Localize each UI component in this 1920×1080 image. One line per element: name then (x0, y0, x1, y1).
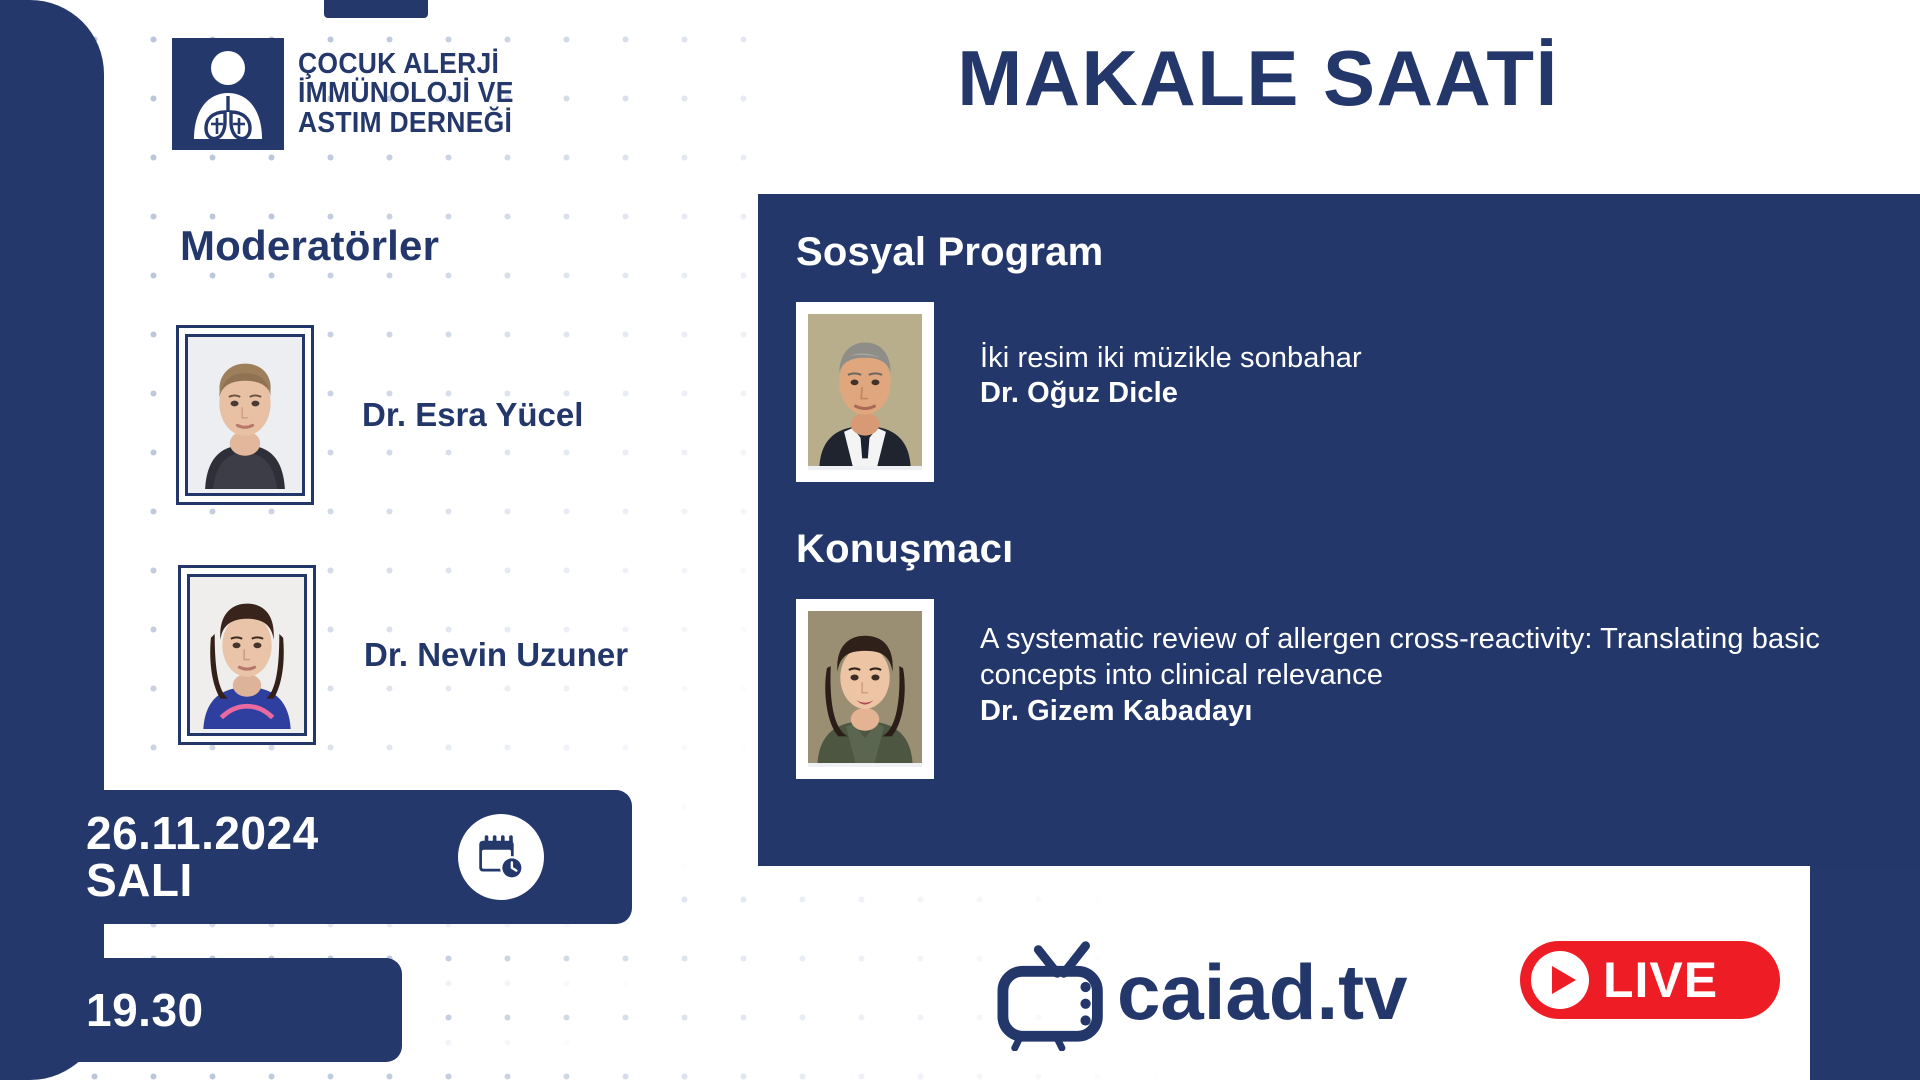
moderator-name: Dr. Esra Yücel (362, 396, 583, 434)
organization-name: ÇOCUK ALERJİ İMMÜNOLOJİ VE ASTIM DERNEĞİ (298, 50, 514, 139)
moderators-heading: Moderatörler (180, 222, 439, 270)
entry-speaker: Dr. Gizem Kabadayı (980, 695, 1920, 728)
poster-canvas: ÇOCUK ALERJİ İMMÜNOLOJİ VE ASTIM DERNEĞİ… (0, 0, 1920, 1080)
program-entry-social: İki resim iki müzikle sonbahar Dr. Oğuz … (796, 302, 1362, 482)
section-heading-social: Sosyal Program (796, 230, 1103, 275)
moderator-row: Dr. Nevin Uzuner (178, 565, 628, 745)
entry-title: A systematic review of allergen cross-re… (980, 621, 1920, 694)
org-line-3: ASTIM DERNEĞİ (298, 109, 514, 139)
speaker-photo-frame (796, 599, 934, 779)
site-brand[interactable]: caiad.tv (995, 928, 1407, 1056)
org-line-1: ÇOCUK ALERJİ (298, 50, 514, 80)
top-accent-tab (324, 0, 428, 18)
event-day: SALI (86, 857, 319, 904)
entry-text-block: İki resim iki müzikle sonbahar Dr. Oğuz … (980, 340, 1362, 410)
program-entry-speaker: A systematic review of allergen cross-re… (796, 599, 1920, 779)
site-name: caiad.tv (1117, 953, 1407, 1031)
event-date: 26.11.2024 (86, 810, 319, 857)
org-line-2: İMMÜNOLOJİ VE (298, 79, 514, 109)
avatar (805, 608, 925, 770)
organization-logo: ÇOCUK ALERJİ İMMÜNOLOJİ VE ASTIM DERNEĞİ (172, 38, 530, 150)
speaker-photo-frame (796, 302, 934, 482)
play-icon (1531, 951, 1589, 1009)
moderator-name: Dr. Nevin Uzuner (364, 636, 628, 674)
program-panel: Sosyal Program (758, 194, 1920, 866)
page-title: MAKALE SAATİ (758, 38, 1758, 120)
date-text: 26.11.2024 SALI (86, 810, 319, 904)
time-badge: 19.30 (62, 958, 402, 1062)
footer-accent-strip (1810, 866, 1920, 1080)
event-time: 19.30 (86, 983, 204, 1037)
avatar (187, 574, 307, 736)
moderator-photo-frame (176, 325, 314, 505)
date-badge: 26.11.2024 SALI (62, 790, 632, 924)
person-lungs-icon (172, 38, 284, 150)
moderator-photo-frame (178, 565, 316, 745)
entry-speaker: Dr. Oğuz Dicle (980, 377, 1362, 410)
live-badge[interactable]: LIVE (1520, 941, 1780, 1019)
entry-text-block: A systematic review of allergen cross-re… (980, 621, 1920, 728)
moderator-row: Dr. Esra Yücel (176, 325, 583, 505)
section-heading-speaker: Konuşmacı (796, 527, 1013, 572)
entry-title: İki resim iki müzikle sonbahar (980, 340, 1362, 376)
live-label: LIVE (1603, 951, 1718, 1009)
avatar (185, 334, 305, 496)
calendar-clock-icon (458, 814, 544, 900)
retro-tv-icon (995, 928, 1123, 1056)
avatar (805, 311, 925, 473)
